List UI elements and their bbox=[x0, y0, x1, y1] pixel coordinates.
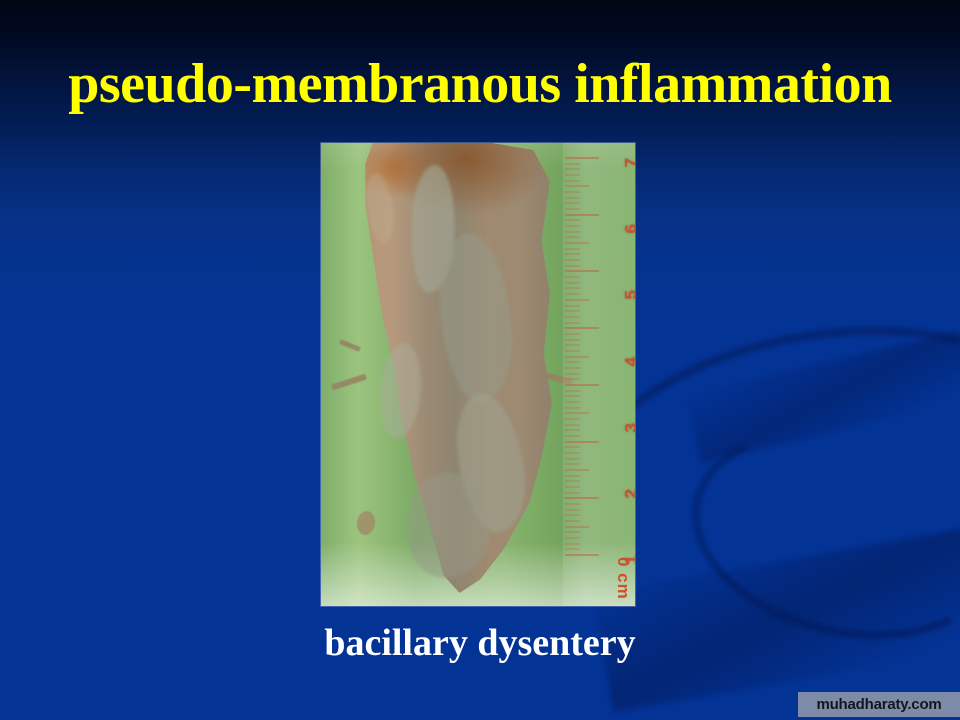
ruler-tick bbox=[565, 293, 580, 295]
ruler-tick bbox=[565, 333, 580, 335]
ruler-tick bbox=[565, 373, 580, 375]
ruler-tick bbox=[565, 480, 580, 482]
ruler-tick bbox=[565, 305, 580, 307]
ruler-tick bbox=[565, 514, 580, 516]
ruler-tick bbox=[565, 446, 580, 448]
ruler-tick bbox=[565, 554, 599, 556]
ruler-tick bbox=[565, 202, 580, 204]
ruler-tick bbox=[565, 497, 599, 499]
ruler-tick bbox=[565, 157, 599, 159]
slide-canvas: pseudo-membranous inflammation 7654321 0… bbox=[0, 0, 960, 720]
ruler-tick bbox=[565, 185, 589, 187]
ruler-tick bbox=[565, 503, 580, 505]
ruler-tick bbox=[565, 384, 599, 386]
ruler-tick bbox=[565, 270, 599, 272]
ruler-tick bbox=[565, 441, 599, 443]
ruler-tick bbox=[565, 475, 580, 477]
ruler-tick bbox=[565, 395, 580, 397]
ruler-tick bbox=[565, 310, 580, 312]
ruler-tick bbox=[565, 378, 580, 380]
ruler-tick bbox=[565, 367, 580, 369]
ruler-tick bbox=[565, 356, 589, 358]
ruler-tick bbox=[565, 242, 589, 244]
ruler-tick bbox=[565, 401, 580, 403]
site-watermark: muhadharaty.com bbox=[798, 692, 960, 717]
ruler-tick bbox=[565, 282, 580, 284]
ruler-tick bbox=[565, 407, 580, 409]
ruler-tick bbox=[565, 424, 580, 426]
ruler-tick bbox=[565, 253, 580, 255]
ruler-number: 2 bbox=[621, 489, 635, 498]
slide-caption: bacillary dysentery bbox=[0, 624, 960, 662]
ruler-tick bbox=[565, 463, 580, 465]
ruler-tick bbox=[565, 168, 580, 170]
ruler-zero-label: 0 cm bbox=[613, 557, 633, 600]
ruler-tick bbox=[565, 520, 580, 522]
ruler-tick bbox=[565, 208, 580, 210]
ruler-tick bbox=[565, 339, 580, 341]
ruler-tick bbox=[565, 327, 599, 329]
ruler-scale: 7654321 0 cm bbox=[563, 143, 635, 606]
ruler-tick bbox=[565, 492, 580, 494]
ruler-tick bbox=[565, 531, 580, 533]
ruler-tick bbox=[565, 191, 580, 193]
ruler-tick bbox=[565, 214, 599, 216]
ruler-tick bbox=[565, 452, 580, 454]
ruler-tick bbox=[565, 486, 580, 488]
ruler-number: 5 bbox=[621, 290, 635, 299]
ruler-tick bbox=[565, 276, 580, 278]
ruler-tick bbox=[565, 543, 580, 545]
ruler-tick bbox=[565, 180, 580, 182]
decorative-ribbon-icon bbox=[686, 331, 960, 462]
ruler-tick bbox=[565, 163, 580, 165]
ruler-tick bbox=[565, 435, 580, 437]
ruler-tick bbox=[565, 197, 580, 199]
ruler-number: 3 bbox=[621, 423, 635, 432]
ruler-tick bbox=[565, 219, 580, 221]
ruler-tick bbox=[565, 322, 580, 324]
ruler-tick bbox=[565, 174, 580, 176]
ruler-tick bbox=[565, 265, 580, 267]
ruler-tick bbox=[565, 299, 589, 301]
ruler-tick bbox=[565, 287, 580, 289]
ruler-number: 4 bbox=[621, 357, 635, 366]
ruler-tick bbox=[565, 537, 580, 539]
ruler-tick bbox=[565, 526, 589, 528]
ruler-tick bbox=[565, 412, 589, 414]
ruler-tick bbox=[565, 344, 580, 346]
ruler-tick bbox=[565, 248, 580, 250]
ruler-number: 6 bbox=[621, 224, 635, 233]
specimen-photo: 7654321 0 cm bbox=[321, 143, 635, 606]
ruler-tick bbox=[565, 361, 580, 363]
ruler-tick bbox=[565, 548, 580, 550]
ruler-tick bbox=[565, 469, 589, 471]
ruler-tick bbox=[565, 259, 580, 261]
ruler-tick bbox=[565, 231, 580, 233]
ruler-tick bbox=[565, 509, 580, 511]
ruler-tick bbox=[565, 350, 580, 352]
decorative-ribbon-icon bbox=[593, 520, 960, 713]
ruler-tick bbox=[565, 236, 580, 238]
ruler-number: 7 bbox=[621, 158, 635, 167]
ruler-tick bbox=[565, 418, 580, 420]
ruler-tick bbox=[565, 225, 580, 227]
ruler-tick bbox=[565, 458, 580, 460]
ruler-tick bbox=[565, 429, 580, 431]
ruler-tick bbox=[565, 316, 580, 318]
ruler-tick bbox=[565, 390, 580, 392]
slide-title: pseudo-membranous inflammation bbox=[0, 56, 960, 112]
